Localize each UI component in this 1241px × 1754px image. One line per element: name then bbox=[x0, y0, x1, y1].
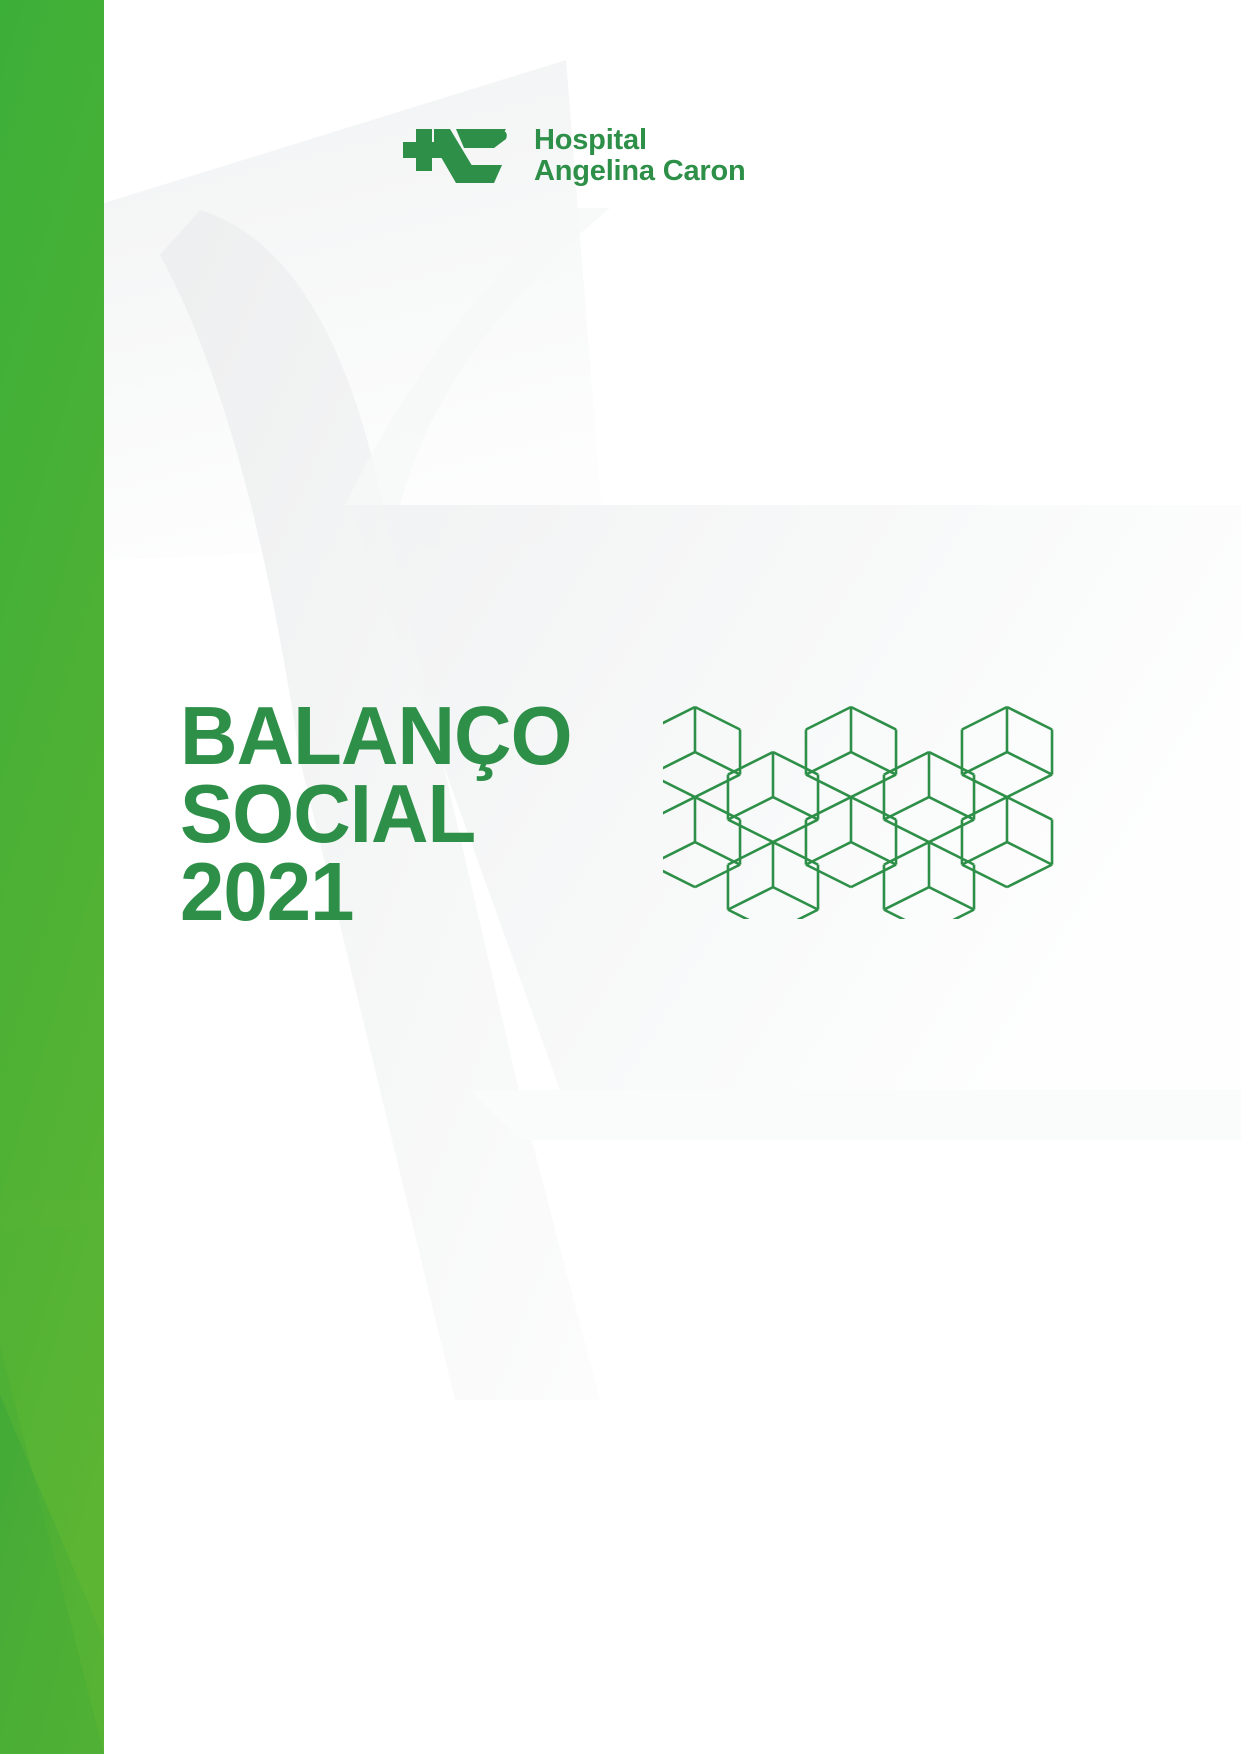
cover-page: Hospital Angelina Caron BALANÇO SOCIAL 2… bbox=[0, 0, 1241, 1754]
hospital-logo: Hospital Angelina Caron bbox=[398, 125, 746, 187]
title-line-year: 2021 bbox=[180, 853, 631, 931]
cover-title: BALANÇO SOCIAL 2021 bbox=[180, 697, 650, 931]
logo-line-angelina-caron: Angelina Caron bbox=[534, 156, 746, 187]
title-line-social: SOCIAL bbox=[180, 775, 631, 853]
logo-wordmark: Hospital Angelina Caron bbox=[534, 125, 746, 186]
left-green-bar bbox=[0, 0, 104, 1754]
hac-cross-logo-icon bbox=[398, 125, 516, 187]
logo-line-hospital: Hospital bbox=[534, 125, 746, 156]
title-line-balanco: BALANÇO bbox=[180, 697, 631, 775]
isometric-cube-pattern bbox=[663, 697, 1103, 919]
